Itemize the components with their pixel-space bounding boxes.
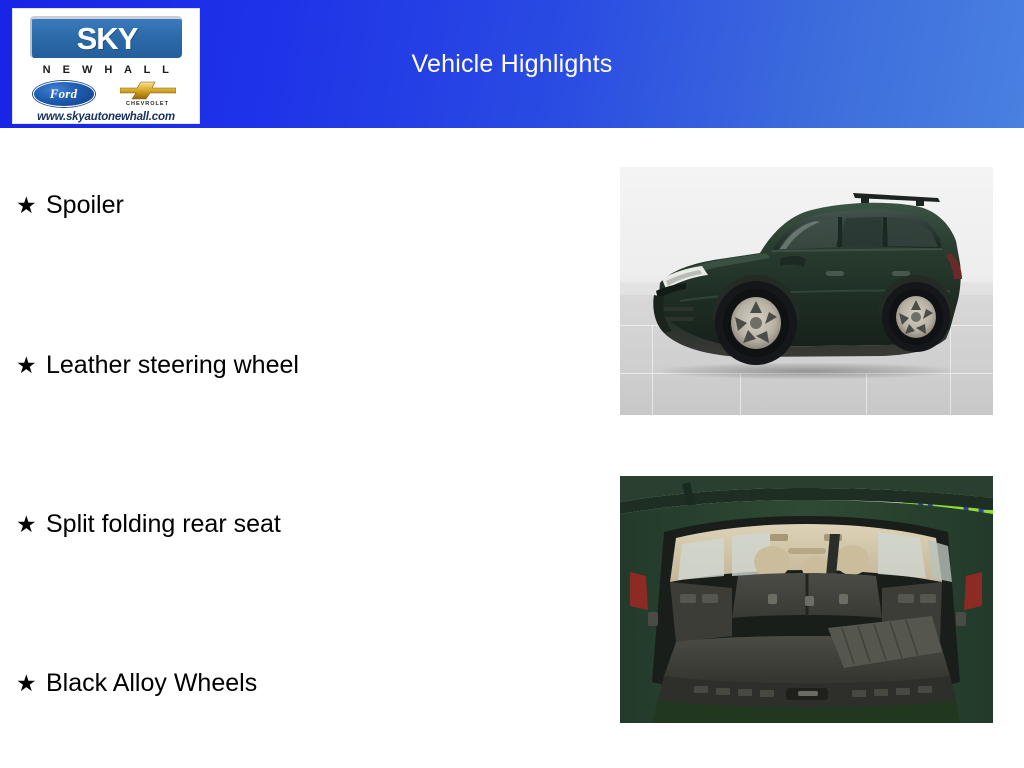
list-item: ★ Black Alloy Wheels	[16, 671, 257, 696]
suv-illustration	[620, 167, 993, 415]
star-bullet-icon: ★	[16, 673, 46, 696]
ford-logo-icon: Ford	[33, 81, 95, 107]
dealer-logo[interactable]: SKY N E W H A L L Ford	[12, 8, 200, 124]
list-item: ★ Split folding rear seat	[16, 512, 281, 537]
brand-badges: Ford CHEVROLET	[22, 81, 190, 107]
feature-label: Leather steering wheel	[46, 353, 299, 378]
chevrolet-logo-label: CHEVROLET	[126, 101, 169, 107]
sky-logo-plate: SKY	[30, 16, 182, 58]
dealer-location-text: N E W H A L L	[39, 64, 174, 76]
vehicle-cargo-photo[interactable]: IF TH	[620, 476, 993, 723]
vehicle-exterior-photo[interactable]	[620, 167, 993, 415]
feature-label: Split folding rear seat	[46, 512, 281, 537]
sky-logo-text: SKY	[77, 23, 138, 54]
dealer-website-url[interactable]: www.skyautonewhall.com	[37, 111, 175, 123]
chevy-bowtie-icon	[120, 81, 176, 100]
chevrolet-logo-icon: CHEVROLET	[116, 81, 180, 107]
star-bullet-icon: ★	[16, 514, 46, 537]
feature-label: Spoiler	[46, 193, 124, 218]
star-bullet-icon: ★	[16, 355, 46, 378]
feature-label: Black Alloy Wheels	[46, 671, 257, 696]
list-item: ★ Leather steering wheel	[16, 353, 299, 378]
cargo-illustration: IF TH	[620, 476, 993, 723]
list-item: ★ Spoiler	[16, 193, 124, 218]
vehicle-highlights-list: ★ Spoiler ★ Leather steering wheel ★ Spl…	[0, 128, 600, 768]
star-bullet-icon: ★	[16, 195, 46, 218]
ford-logo-label: Ford	[50, 86, 78, 102]
